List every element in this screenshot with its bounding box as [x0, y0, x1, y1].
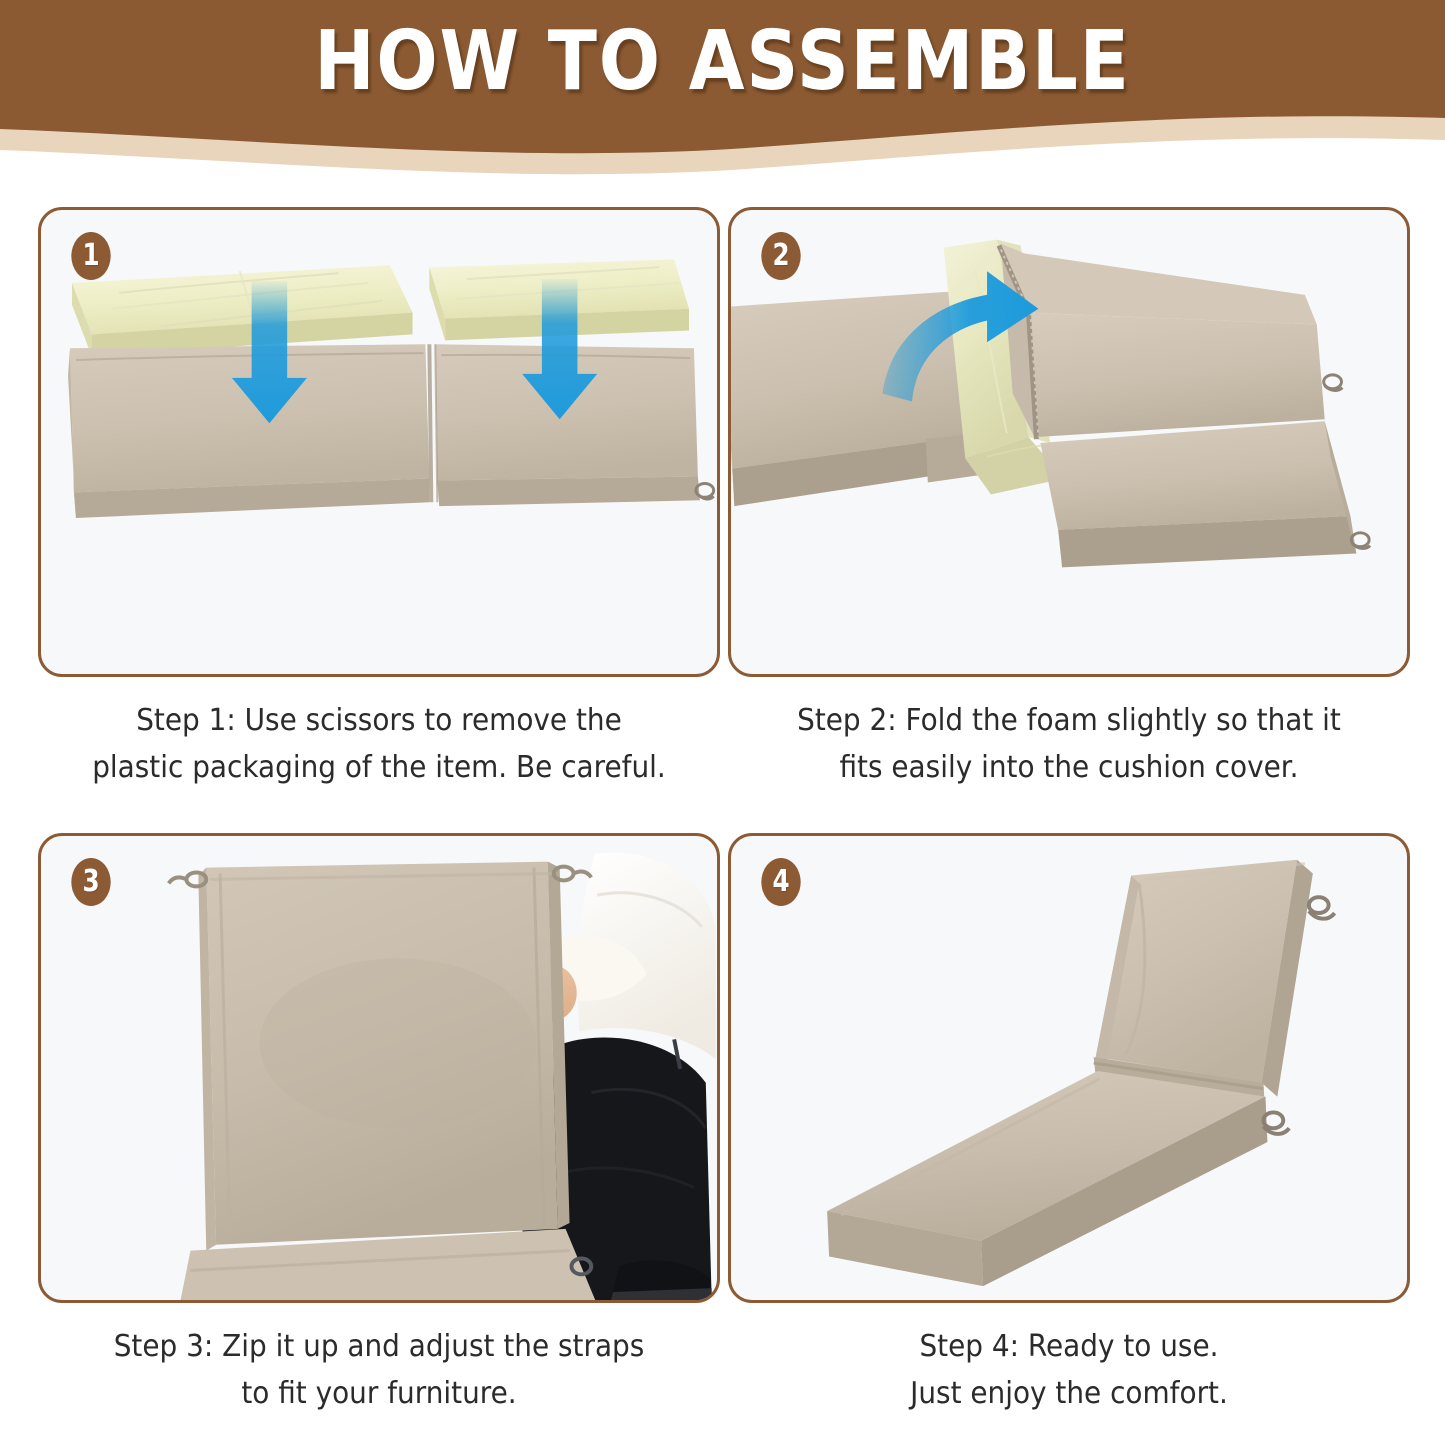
lounger-tie-bottom	[1263, 1112, 1289, 1133]
step-cell-1: 1 Step 1: Use scissors to remove the pla…	[38, 207, 720, 791]
cushion-tie-strap-top	[1324, 375, 1343, 391]
lounger-backrest	[1096, 860, 1335, 1097]
step-3-illustration	[41, 836, 717, 1300]
header-banner: HOW TO ASSEMBLE	[0, 0, 1445, 175]
step-caption-4: Step 4: Ready to use. Just enjoy the com…	[752, 1323, 1386, 1417]
step-caption-1-line-2: plastic packaging of the item. Be carefu…	[62, 744, 696, 791]
step-2-illustration	[731, 210, 1407, 674]
step-cell-3: 3 Step 3: Zip it up and adjust the strap…	[38, 833, 720, 1417]
step-badge-2: 2	[761, 232, 800, 280]
step-1-illustration	[41, 210, 717, 674]
lounger-tie-top	[1309, 897, 1335, 918]
step-badge-3: 3	[71, 858, 110, 906]
steps-grid: 1 Step 1: Use scissors to remove the pla…	[0, 175, 1445, 1445]
cushion-cover	[68, 344, 714, 518]
foam-pad-left	[72, 265, 413, 356]
step-cell-4: 4 Step 4: Ready to use. Just enjoy the c…	[728, 833, 1410, 1417]
step-panel-2: 2	[728, 207, 1410, 677]
step-caption-4-line-2: Just enjoy the comfort.	[752, 1370, 1386, 1417]
step-caption-3: Step 3: Zip it up and adjust the straps …	[62, 1323, 696, 1417]
step-badge-1: 1	[71, 232, 110, 280]
step-caption-3-line-1: Step 3: Zip it up and adjust the straps	[62, 1323, 696, 1370]
step-caption-1-line-1: Step 1: Use scissors to remove the	[62, 697, 696, 744]
step-cell-2: 2 Step 2: Fold the foam slightly so that…	[728, 207, 1410, 791]
step-caption-2: Step 2: Fold the foam slightly so that i…	[752, 697, 1386, 791]
cushion-cover-open-flap	[999, 244, 1325, 439]
lounger-seat	[827, 1071, 1289, 1286]
step-panel-4: 4	[728, 833, 1410, 1303]
step-4-illustration	[731, 836, 1407, 1300]
step-caption-2-line-1: Step 2: Fold the foam slightly so that i…	[752, 697, 1386, 744]
step-panel-3: 3	[38, 833, 720, 1303]
step-caption-4-line-1: Step 4: Ready to use.	[752, 1323, 1386, 1370]
cushion-back-panel	[169, 862, 592, 1251]
step-badge-4: 4	[761, 858, 800, 906]
step-caption-2-line-2: fits easily into the cushion cover.	[752, 744, 1386, 791]
header-banner-shape	[0, 0, 1445, 175]
step-caption-3-line-2: to fit your furniture.	[62, 1370, 696, 1417]
step-caption-1: Step 1: Use scissors to remove the plast…	[62, 697, 696, 791]
step-panel-1: 1	[38, 207, 720, 677]
